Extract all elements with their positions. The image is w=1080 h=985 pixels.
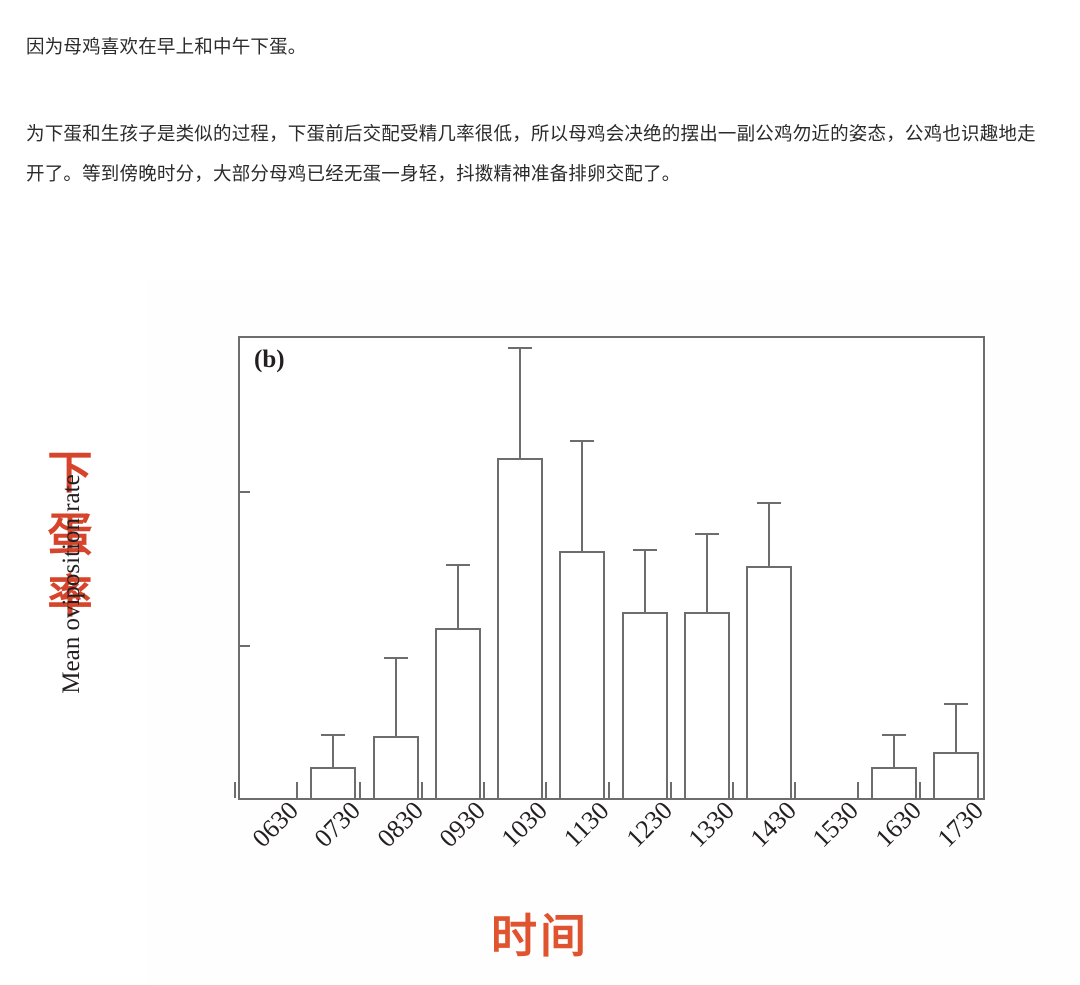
error-bar-cap (633, 549, 657, 551)
bar-slot (863, 338, 925, 798)
bar-slot (489, 338, 551, 798)
error-bar-stem (581, 442, 583, 550)
article-body: 因为母鸡喜欢在早上和中午下蛋。 为下蛋和生孩子是类似的过程，下蛋前后交配受精几率… (26, 0, 1056, 213)
error-bar-cap (321, 734, 345, 736)
error-bar-stem (706, 535, 708, 612)
error-bar-stem (457, 566, 459, 628)
bar-slot (427, 338, 489, 798)
error-bar-cap (446, 564, 470, 566)
y-axis-tick-mark (238, 645, 250, 647)
chart-bar (497, 458, 543, 798)
chart-bar (622, 612, 668, 798)
error-bar-cap (384, 657, 408, 659)
bar-slot (676, 338, 738, 798)
bar-slot (240, 338, 302, 798)
bar-slot (302, 338, 364, 798)
figure-container: 下 蛋 率 Mean oviposition rate (b) 0.000.01… (0, 280, 1080, 985)
bar-slot (925, 338, 987, 798)
x-axis-tick-mark (234, 782, 236, 798)
bar-slot (800, 338, 862, 798)
chart-bar (684, 612, 730, 798)
bar-slot (614, 338, 676, 798)
chart-plot-area: (b) (238, 336, 985, 800)
error-bar-stem (395, 659, 397, 736)
y-axis-title: Mean oviposition rate (58, 459, 86, 709)
error-bar-cap (944, 703, 968, 705)
error-bar-cap (757, 502, 781, 504)
bar-slot (365, 338, 427, 798)
x-axis-ticks: 0630073008300930103011301230133014301530… (238, 800, 985, 910)
error-bar-stem (955, 705, 957, 751)
article-paragraph-1: 因为母鸡喜欢在早上和中午下蛋。 (26, 27, 1056, 67)
chart-bar (435, 628, 481, 798)
chart-bar (559, 551, 605, 798)
red-annotation-x-axis: 时间 (0, 900, 1080, 966)
error-bar-cap (508, 347, 532, 349)
error-bar-cap (882, 734, 906, 736)
error-bar-stem (768, 504, 770, 566)
error-bar-stem (332, 736, 334, 767)
error-bar-stem (644, 551, 646, 613)
error-bar-cap (570, 440, 594, 442)
bar-slot (738, 338, 800, 798)
y-axis-tick-mark (238, 491, 250, 493)
error-bar-stem (519, 349, 521, 457)
bar-slot (551, 338, 613, 798)
bars-layer (240, 338, 983, 798)
chart-bar (746, 566, 792, 798)
error-bar-cap (695, 533, 719, 535)
error-bar-stem (893, 736, 895, 767)
chart-bar (373, 736, 419, 798)
article-paragraph-2: 为下蛋和生孩子是类似的过程，下蛋前后交配受精几率很低，所以母鸡会决绝的摆出一副公… (26, 114, 1048, 194)
